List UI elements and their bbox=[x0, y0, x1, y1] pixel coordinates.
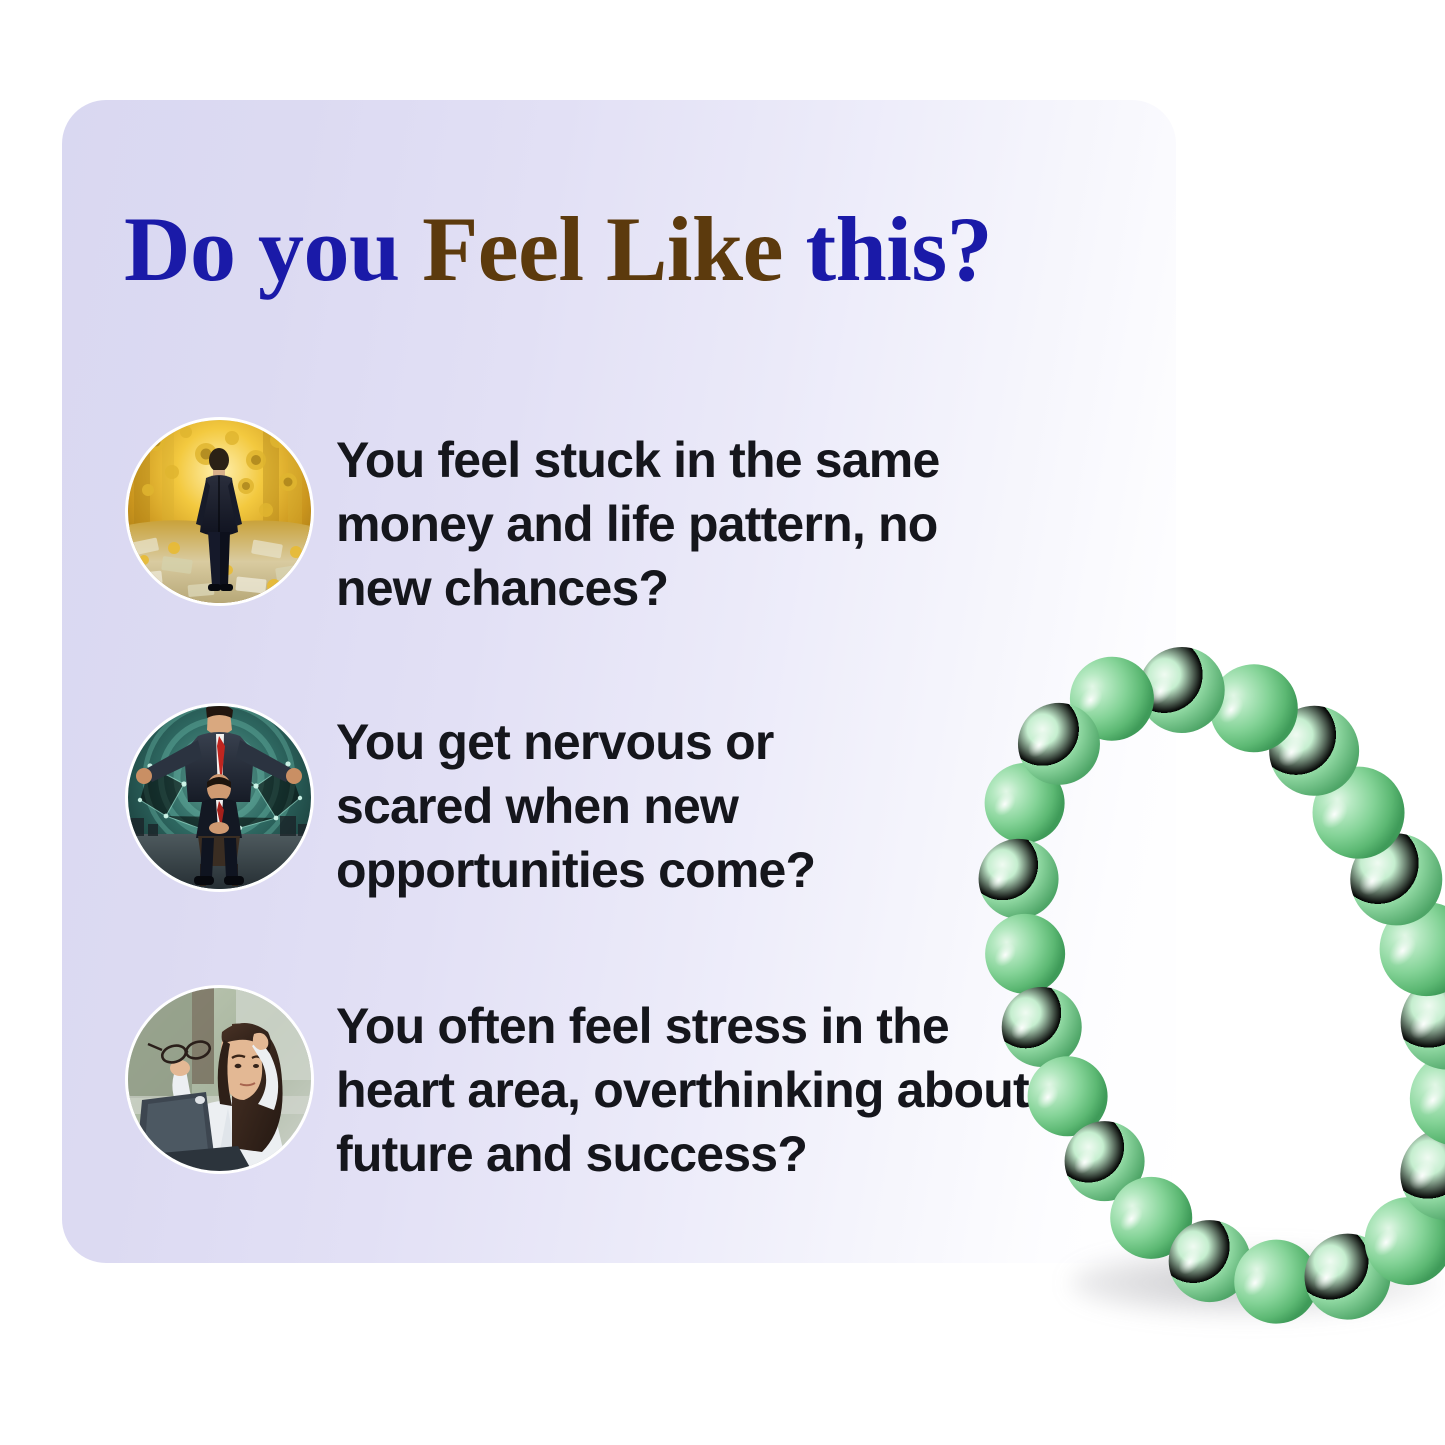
page-title: Do you Feel Like this? bbox=[124, 201, 992, 298]
list-item: You often feel stress in the heart area,… bbox=[128, 988, 1038, 1186]
headline-part-1: Do you bbox=[124, 198, 422, 300]
green-aventurine-bead-bracelet bbox=[1005, 628, 1445, 1308]
man-walking-through-golden-money-thumbnail bbox=[128, 420, 311, 603]
list-item-text: You often feel stress in the heart area,… bbox=[336, 988, 1038, 1186]
list-item: You feel stuck in the same money and lif… bbox=[128, 420, 1038, 620]
headline-part-2: Feel Like bbox=[422, 198, 805, 300]
list-item: You get nervous or scared when new oppor… bbox=[128, 706, 1038, 902]
stressed-woman-at-laptop-thumbnail bbox=[128, 988, 311, 1171]
headline-part-3: this? bbox=[805, 198, 992, 300]
pain-point-list: You feel stuck in the same money and lif… bbox=[128, 420, 1038, 1186]
anxious-businessman-network-thumbnail bbox=[128, 706, 311, 889]
list-item-text: You get nervous or scared when new oppor… bbox=[336, 706, 896, 902]
list-item-text: You feel stuck in the same money and lif… bbox=[336, 420, 1038, 620]
